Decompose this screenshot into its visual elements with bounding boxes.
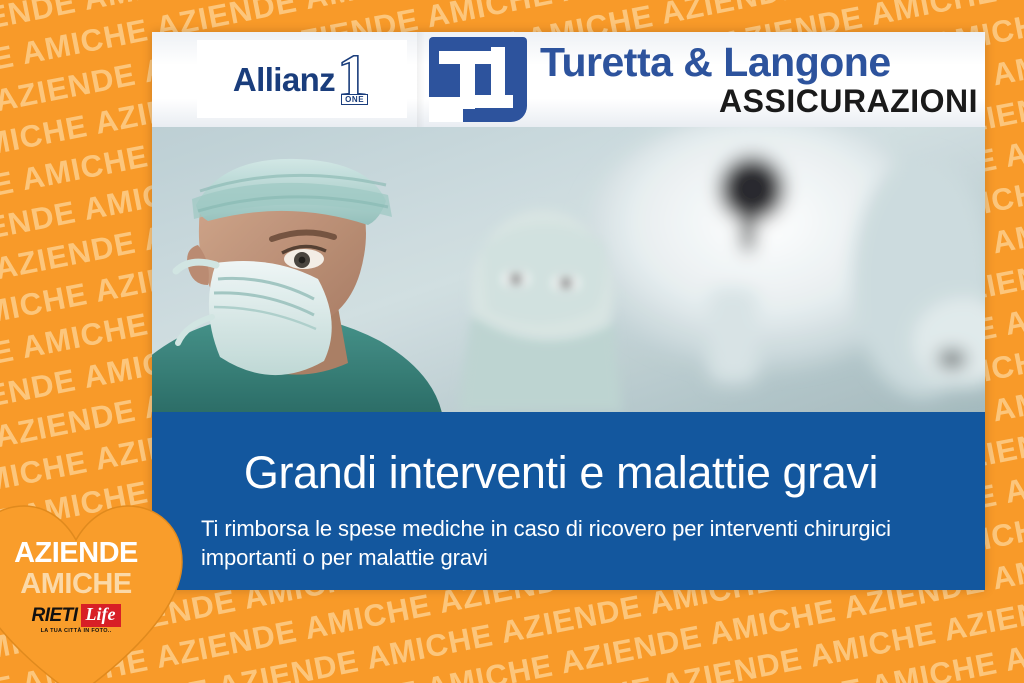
life-badge-box: Life (81, 604, 121, 627)
badge-line-amiche: AMICHE (0, 569, 190, 600)
turetta-langone-wordmark: Turetta & Langone ASSICURAZIONI (540, 40, 980, 118)
allianz-one-label: ONE (341, 94, 368, 105)
allianz-logo: Allianz 1 ONE (197, 40, 407, 118)
tl-l-stem-shape (491, 47, 505, 97)
badge-line-aziende: AZIENDE (0, 538, 190, 569)
flyer-blue-banner: Grandi interventi e malattie gravi Ti ri… (152, 412, 985, 590)
operating-room-illustration (152, 127, 985, 412)
allianz-one-icon: 1 ONE (337, 50, 371, 106)
turetta-langone-subtitle: ASSICURAZIONI (540, 84, 980, 118)
screenshot-canvas: AZIENDE AMICHE AZIENDE AMICHE AZIENDE AM… (0, 0, 1024, 683)
turetta-langone-logo-icon (429, 37, 527, 122)
rieti-life-logo: RIETI Life (31, 604, 120, 627)
rieti-tagline: LA TUA CITTÀ IN FOTO.. (0, 628, 190, 634)
flyer-logo-header: Allianz 1 ONE Turetta & Langone ASSICURA… (152, 32, 985, 127)
insurance-flyer-card: Allianz 1 ONE Turetta & Langone ASSICURA… (152, 32, 985, 590)
allianz-wordmark: Allianz (233, 63, 335, 96)
logo-divider (417, 32, 425, 127)
aziende-amiche-badge: AZIENDE AMICHE RIETI Life LA TUA CITTÀ I… (0, 500, 190, 683)
tl-l-foot-shape (473, 95, 513, 108)
rieti-wordmark: RIETI (31, 606, 77, 625)
operating-room-photo (152, 127, 985, 412)
flyer-headline: Grandi interventi e malattie gravi (197, 448, 945, 498)
life-wordmark: Life (86, 604, 116, 624)
badge-text-block: AZIENDE AMICHE RIETI Life LA TUA CITTÀ I… (0, 538, 190, 634)
tl-notch-shape (429, 97, 463, 122)
turetta-langone-name: Turetta & Langone (540, 40, 980, 84)
flyer-subheadline: Ti rimborsa le spese mediche in caso di … (197, 514, 945, 572)
